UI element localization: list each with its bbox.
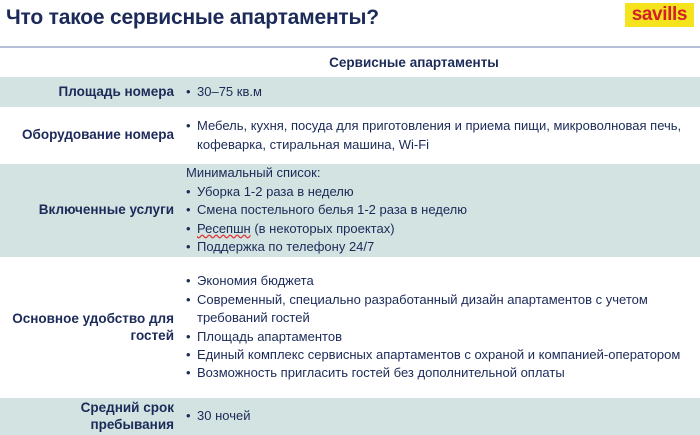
table-header-row: Сервисные апартаменты xyxy=(0,48,700,77)
slide: Что такое сервисные апартаменты? savills… xyxy=(0,0,700,435)
table-row: Включенные услуги Минимальный список: Уб… xyxy=(0,164,700,257)
row-value: 30–75 кв.м xyxy=(186,77,700,107)
bullet-item: Возможность пригласить гостей без дополн… xyxy=(186,364,690,382)
table-header-spacer xyxy=(0,48,186,77)
list-intro: Минимальный список: xyxy=(186,164,690,182)
table-row: Оборудование номера Мебель, кухня, посуд… xyxy=(0,107,700,164)
bullet-item: 30–75 кв.м xyxy=(186,83,690,101)
bullet-item: Экономия бюджета xyxy=(186,272,690,290)
logo-text: savills xyxy=(632,4,687,25)
bullet-item: Уборка 1-2 раза в неделю xyxy=(186,183,690,201)
row-value: Минимальный список: Уборка 1-2 раза в не… xyxy=(186,164,700,257)
bullet-item: Смена постельного белья 1-2 раза в недел… xyxy=(186,201,690,219)
table-row: Средний срок пребывания 30 ночей xyxy=(0,398,700,435)
row-label: Средний срок пребывания xyxy=(0,398,186,435)
title-divider xyxy=(0,46,700,48)
misspelled-word: Ресепшн xyxy=(197,221,251,236)
row-value: Экономия бюджета Современный, специально… xyxy=(186,257,700,398)
row-label: Оборудование номера xyxy=(0,107,186,164)
table-row: Площадь номера 30–75 кв.м xyxy=(0,77,700,107)
bullet-item: Современный, специально разработанный ди… xyxy=(186,291,690,328)
column-header-serviced-apartments: Сервисные апартаменты xyxy=(186,48,700,77)
bullet-item: Мебель, кухня, посуда для приготовления … xyxy=(186,117,690,154)
bullet-item: Поддержка по телефону 24/7 xyxy=(186,238,690,256)
row-label: Площадь номера xyxy=(0,77,186,107)
title-bar: Что такое сервисные апартаменты? savills xyxy=(0,0,700,48)
row-value: Мебель, кухня, посуда для приготовления … xyxy=(186,107,700,164)
bullet-item-tail: (в некоторых проектах) xyxy=(251,221,395,236)
table-row: Основное удобство для гостей Экономия бю… xyxy=(0,257,700,398)
bullet-item: Единый комплекс сервисных апартаментов с… xyxy=(186,346,690,364)
page-title: Что такое сервисные апартаменты? xyxy=(6,6,379,30)
row-label: Основное удобство для гостей xyxy=(0,257,186,398)
savills-logo: savills xyxy=(625,3,694,27)
row-label: Включенные услуги xyxy=(0,164,186,257)
bullet-item-reception: Ресепшн (в некоторых проектах) xyxy=(186,220,690,238)
row-value: 30 ночей xyxy=(186,398,700,435)
bullet-item: Площадь апартаментов xyxy=(186,328,690,346)
comparison-table: Площадь номера 30–75 кв.м Оборудование н… xyxy=(0,77,700,435)
bullet-item: 30 ночей xyxy=(186,407,690,425)
